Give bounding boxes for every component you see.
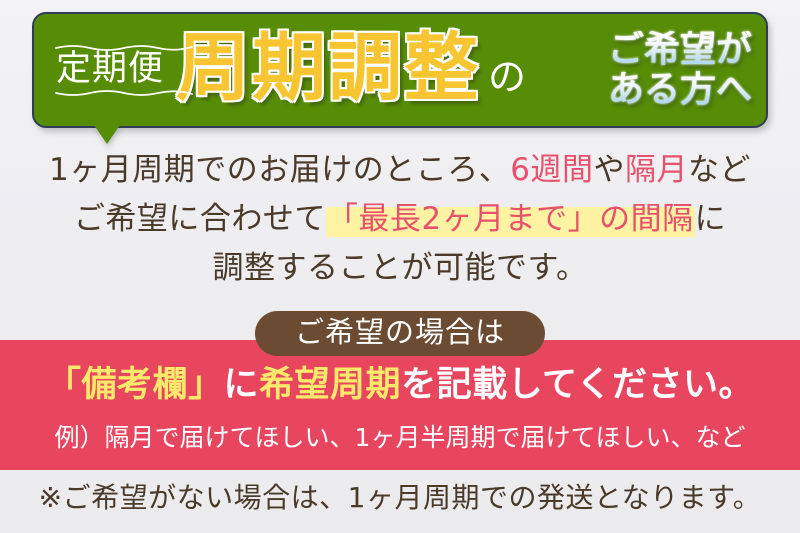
header-content: 定期便 周期調整 の ご希望が ある方へ [32, 12, 768, 128]
callout-main-part-b: に [224, 365, 260, 405]
header-wish-text: ご希望が ある方へ [608, 31, 752, 109]
body-line-1: 1ヶ月周期でのお届けのところ、6週間や隔月など [0, 146, 800, 195]
callout-main-highlight-1: 「備考欄」 [46, 365, 224, 405]
body-line-1-part-c: や [593, 152, 625, 188]
body-paragraph: 1ヶ月周期でのお届けのところ、6週間や隔月など ご希望に合わせて「最長2ヶ月まで… [0, 146, 800, 293]
footer-note: ※ご希望がない場合は、1ヶ月周期での発送となります。 [0, 484, 800, 512]
body-line-2: ご希望に合わせて「最長2ヶ月まで」の間隔に [0, 195, 800, 244]
header-wish-line-2: ある方へ [608, 71, 752, 109]
body-line-2-highlight: 「最長2ヶ月まで」の間隔 [326, 201, 695, 237]
body-line-1-part-a: 1ヶ月周期でのお届けのところ、 [49, 152, 510, 188]
body-line-1-emphasis-2: 隔月 [625, 152, 688, 188]
wave-line-bottom-icon [55, 90, 193, 97]
body-line-1-part-e: など [688, 152, 751, 188]
header-wish-line-1: ご希望が [608, 31, 752, 69]
subscription-label: 定期便 [54, 42, 166, 99]
header-speech-bubble: 定期便 周期調整 の ご希望が ある方へ [32, 12, 768, 128]
promo-banner: 定期便 周期調整 の ご希望が ある方へ 1ヶ月周期でのお届けのところ、6週間や… [0, 0, 800, 533]
body-line-2-part-c: に [695, 201, 727, 237]
body-line-3: 調整することが可能です。 [0, 244, 800, 293]
callout-main-part-d: を記載してください。 [401, 365, 754, 405]
subscription-label-text: 定期便 [56, 52, 164, 87]
wave-line-top-icon [55, 44, 193, 51]
body-line-2-part-a: ご希望に合わせて [74, 201, 326, 237]
callout-main-highlight-2: 希望周期 [259, 365, 401, 405]
body-line-1-emphasis-1: 6週間 [510, 152, 593, 188]
speech-bubble-tail-icon [94, 125, 120, 144]
header-title-particle: の [488, 58, 526, 96]
header-title: 周期調整 [176, 31, 480, 109]
callout-badge: ご希望の場合は [255, 311, 545, 356]
callout-main-text: 「備考欄」に希望周期を記載してください。 [0, 368, 800, 403]
callout-example-text: 例）隔月で届けてほしい、1ヶ月半周期で届けてほしい、など [0, 425, 800, 450]
